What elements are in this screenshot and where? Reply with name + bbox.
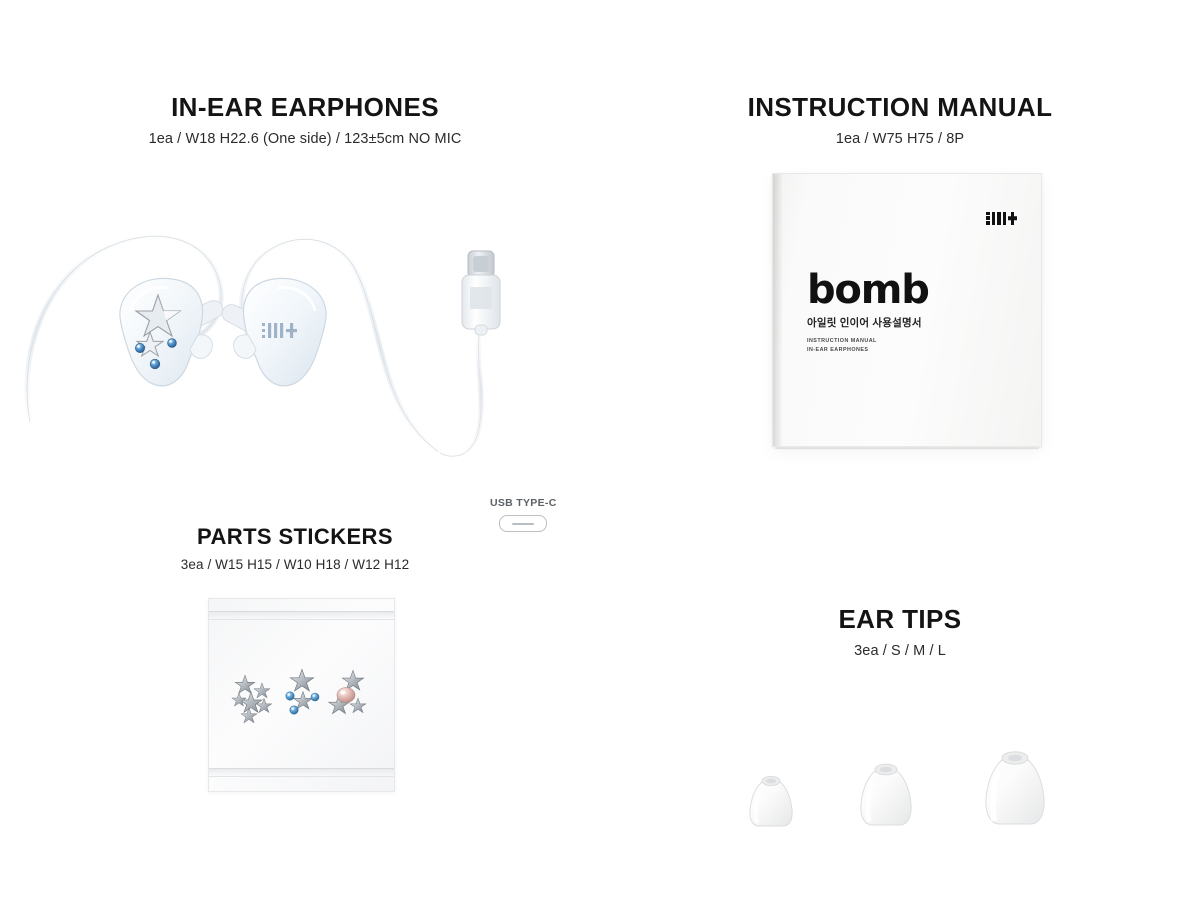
earphones-heading: IN-EAR EARPHONES 1ea / W18 H22.6 (One si… bbox=[95, 92, 515, 147]
eartips-photo bbox=[600, 685, 1200, 835]
manual-brand-name: bomb bbox=[807, 270, 929, 310]
manual-subtitle-en-line1: INSTRUCTION MANUAL bbox=[807, 337, 929, 345]
manual-spec: 1ea / W75 H75 / 8P bbox=[600, 131, 1200, 147]
usb-type-c-text: USB TYPE-C bbox=[490, 497, 557, 509]
sticker-set-pearl bbox=[329, 670, 366, 713]
stickers-heading: PARTS STICKERS 3ea / W15 H15 / W10 H18 /… bbox=[85, 524, 505, 572]
manual-subtitle-en-line2: IN-EAR EARPHONES bbox=[807, 346, 929, 354]
eartips-heading: EAR TIPS 3ea / S / M / L bbox=[600, 604, 1200, 659]
usb-c-plug-icon bbox=[462, 251, 500, 335]
earphones-photo: USB TYPE-C bbox=[0, 167, 600, 497]
ear-tip-medium bbox=[848, 759, 924, 835]
sticker-pouch bbox=[208, 598, 395, 792]
sticker-set-blue-gems bbox=[286, 669, 319, 714]
eartips-title: EAR TIPS bbox=[600, 604, 1200, 635]
ear-tip-small bbox=[740, 771, 802, 835]
ear-tip-large bbox=[970, 747, 1060, 835]
stickers-photo bbox=[0, 598, 600, 858]
earphones-spec: 1ea / W18 H22.6 (One side) / 123±5cm NO … bbox=[95, 131, 515, 147]
manual-brand-logo-icon bbox=[986, 202, 1017, 225]
eartips-spec: 3ea / S / M / L bbox=[600, 643, 1200, 659]
sticker-set-silver-stars bbox=[232, 675, 272, 723]
manual-title: INSTRUCTION MANUAL bbox=[600, 92, 1200, 123]
manual-cover-text: bomb 아일릿 인이어 사용설명서 INSTRUCTION MANUAL IN… bbox=[807, 270, 929, 354]
component-parts-stickers: PARTS STICKERS 3ea / W15 H15 / W10 H18 /… bbox=[0, 524, 600, 858]
component-ear-tips: EAR TIPS 3ea / S / M / L bbox=[600, 604, 1200, 835]
earphones-title: IN-EAR EARPHONES bbox=[95, 92, 515, 123]
manual-booklet-cover: bomb 아일릿 인이어 사용설명서 INSTRUCTION MANUAL IN… bbox=[772, 173, 1042, 447]
component-in-ear-earphones: IN-EAR EARPHONES 1ea / W18 H22.6 (One si… bbox=[0, 92, 600, 497]
stickers-spec: 3ea / W15 H15 / W10 H18 / W12 H12 bbox=[85, 557, 505, 572]
manual-heading: INSTRUCTION MANUAL 1ea / W75 H75 / 8P bbox=[600, 92, 1200, 147]
product-contents-canvas: IN-EAR EARPHONES 1ea / W18 H22.6 (One si… bbox=[0, 0, 1200, 900]
manual-subtitle-kr: 아일릿 인이어 사용설명서 bbox=[807, 315, 929, 330]
stickers-title: PARTS STICKERS bbox=[85, 524, 505, 550]
component-instruction-manual: INSTRUCTION MANUAL 1ea / W75 H75 / 8P bo… bbox=[600, 92, 1200, 489]
manual-photo: bomb 아일릿 인이어 사용설명서 INSTRUCTION MANUAL IN… bbox=[600, 169, 1200, 489]
